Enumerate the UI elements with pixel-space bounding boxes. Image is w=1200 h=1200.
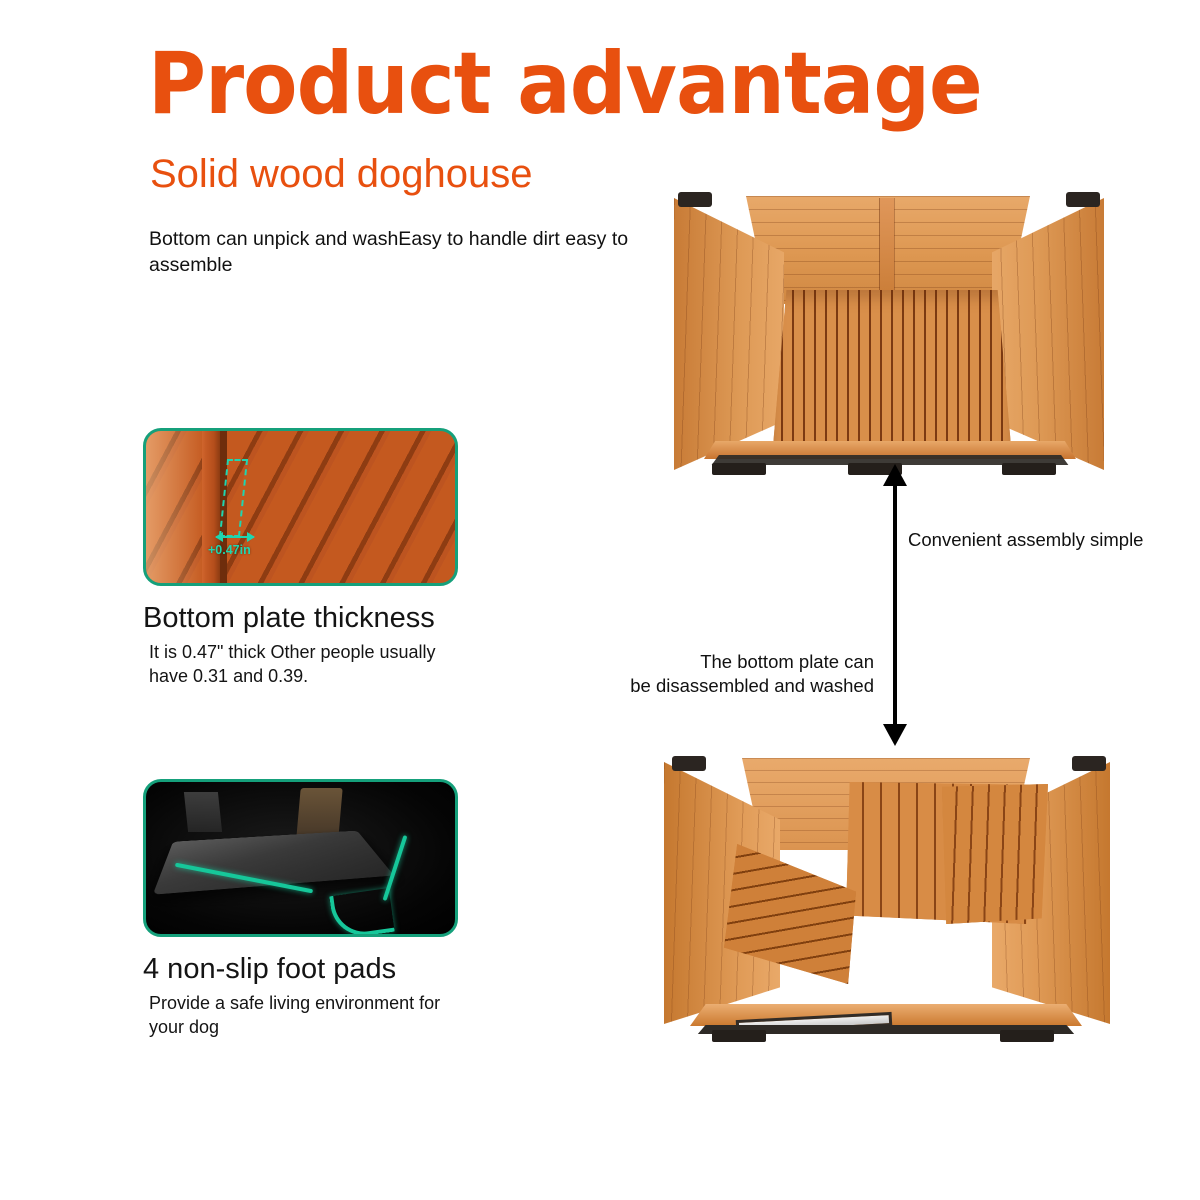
foot-pad-front-left [712, 463, 766, 475]
removable-floor-panel-b [942, 784, 1048, 924]
corner-cap-right-2 [1072, 756, 1106, 771]
corner-cap-left-2 [672, 756, 706, 771]
annotation-bottom-plate-washable: The bottom plate can be disassembled and… [624, 650, 874, 698]
plank-vertical [202, 428, 222, 586]
pad-highlight-curve [329, 888, 395, 937]
pad-background-post [184, 792, 222, 832]
product-photo-disassembled [660, 752, 1112, 1048]
foot-pad-front-right [1002, 463, 1056, 475]
annotation-convenient-assembly: Convenient assembly simple [908, 528, 1158, 552]
product-photo-assembled [668, 190, 1108, 475]
thickness-measure-label: +0.47in [208, 543, 251, 557]
back-wall-post [880, 198, 894, 302]
feature-desc-foot-pads: Provide a safe living environment for yo… [149, 991, 479, 1039]
foot-pad-front-left-2 [712, 1030, 766, 1042]
slatted-floor [772, 290, 1012, 458]
foot-pad-photo [143, 779, 458, 937]
doghouse-box-open [668, 190, 1108, 475]
infographic-page: Product advantage Solid wood doghouse Bo… [0, 0, 1200, 1200]
assembly-double-arrow [893, 484, 897, 726]
feature-desc-thickness: It is 0.47" thick Other people usually h… [149, 640, 479, 688]
intro-text: Bottom can unpick and washEasy to handle… [149, 226, 649, 278]
corner-cap-right [1066, 192, 1100, 207]
thickness-measure-arrow-icon [216, 536, 254, 538]
feature-title-foot-pads: 4 non-slip foot pads [143, 951, 458, 987]
page-title: Product advantage [148, 36, 982, 132]
photo-highlight [146, 431, 206, 586]
thickness-photo: +0.47in [143, 428, 458, 586]
foot-pad-front-right-2 [1000, 1030, 1054, 1042]
page-subtitle: Solid wood doghouse [150, 150, 533, 198]
feature-card-non-slip-foot-pads: 4 non-slip foot pads Provide a safe livi… [143, 779, 458, 1039]
corner-cap-left [678, 192, 712, 207]
feature-title-thickness: Bottom plate thickness [143, 600, 458, 636]
doghouse-box-apart [660, 752, 1112, 1048]
feature-card-bottom-plate-thickness: +0.47in Bottom plate thickness It is 0.4… [143, 428, 458, 688]
